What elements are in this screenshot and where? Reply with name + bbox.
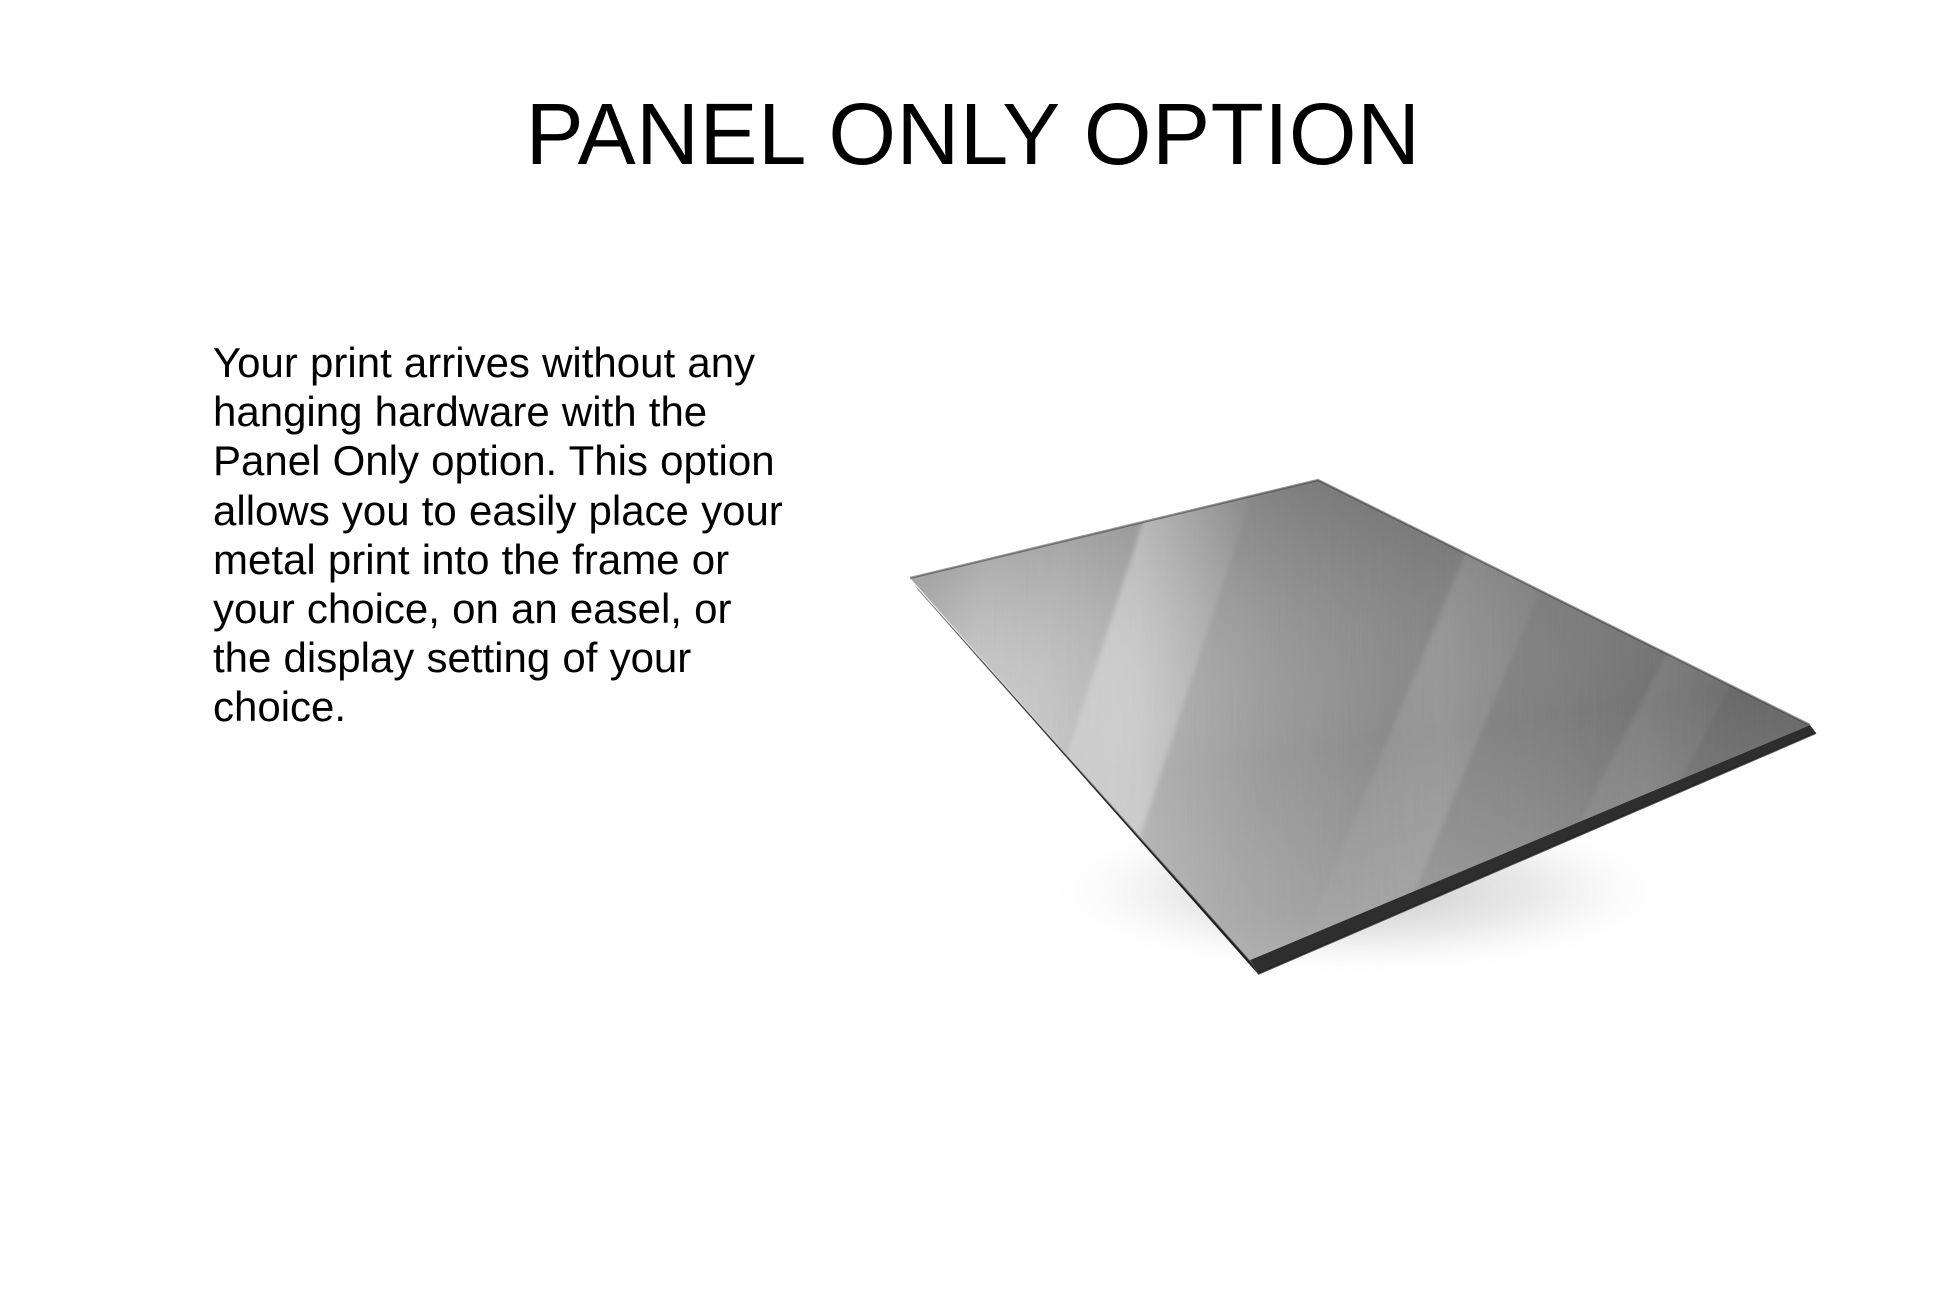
body-paragraph: Your print arrives without any hanging h…: [213, 338, 793, 732]
page-title: PANEL ONLY OPTION: [0, 88, 1946, 182]
metal-panel-figure: [860, 430, 1870, 1000]
slide-canvas: PANEL ONLY OPTION Your print arrives wit…: [0, 0, 1946, 1297]
